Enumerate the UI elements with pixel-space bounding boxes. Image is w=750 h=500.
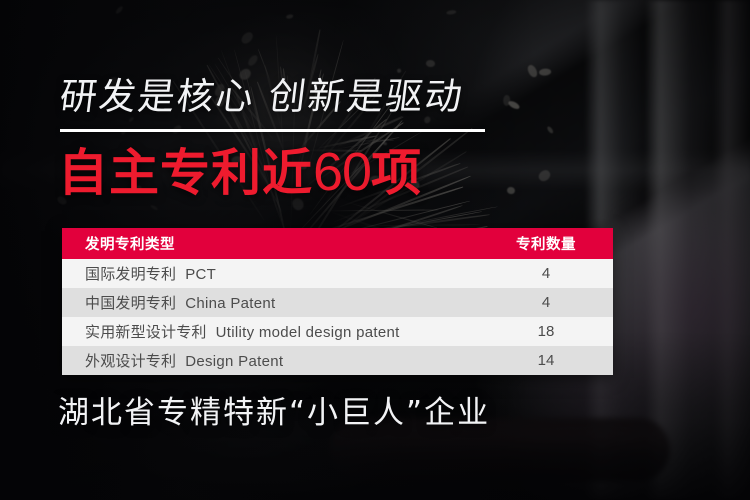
table-body: 国际发明专利PCT4中国发明专利China Patent4实用新型设计专利Uti… <box>62 259 613 375</box>
cell-patent-type: 中国发明专利China Patent <box>62 292 485 313</box>
cell-patent-count: 4 <box>485 294 613 311</box>
cell-patent-count: 14 <box>485 352 613 369</box>
table-row: 外观设计专利Design Patent14 <box>62 346 613 375</box>
patent-type-en: China Patent <box>185 295 275 312</box>
cell-patent-type: 实用新型设计专利Utility model design patent <box>62 321 485 342</box>
patent-type-cn: 国际发明专利 <box>85 265 176 283</box>
patent-type-cn: 外观设计专利 <box>85 352 176 370</box>
patent-type-cn: 中国发明专利 <box>85 294 176 312</box>
cell-patent-count: 4 <box>485 265 613 282</box>
patent-type-en: Utility model design patent <box>216 324 400 341</box>
patent-type-cn: 实用新型设计专利 <box>85 323 207 341</box>
headline-divider-rule <box>60 129 485 132</box>
table-row: 实用新型设计专利Utility model design patent18 <box>62 317 613 346</box>
column-header-count: 专利数量 <box>485 233 613 254</box>
subheadline-suffix: 项 <box>371 144 422 202</box>
patent-type-en: PCT <box>185 266 216 283</box>
poster-content: 研发是核心 创新是驱动 自主专利近60项 发明专利类型 专利数量 国际发明专利P… <box>0 0 750 500</box>
patent-table: 发明专利类型 专利数量 国际发明专利PCT4中国发明专利China Patent… <box>62 228 613 375</box>
table-row: 国际发明专利PCT4 <box>62 259 613 288</box>
footer-text: 湖北省专精特新“小巨人”企业 <box>58 398 490 429</box>
patent-type-en: Design Patent <box>185 353 283 370</box>
subheadline-text: 自主专利近60项 <box>58 145 422 199</box>
table-row: 中国发明专利China Patent4 <box>62 288 613 317</box>
poster-canvas: 研发是核心 创新是驱动 自主专利近60项 发明专利类型 专利数量 国际发明专利P… <box>0 0 750 500</box>
column-header-type: 发明专利类型 <box>62 233 485 254</box>
table-header-row: 发明专利类型 专利数量 <box>62 228 613 259</box>
headline-text: 研发是核心 创新是驱动 <box>58 78 466 115</box>
cell-patent-count: 18 <box>485 323 613 340</box>
subheadline-number: 60 <box>313 142 371 202</box>
cell-patent-type: 国际发明专利PCT <box>62 263 485 284</box>
cell-patent-type: 外观设计专利Design Patent <box>62 350 485 371</box>
subheadline-prefix: 自主专利近 <box>58 144 313 202</box>
